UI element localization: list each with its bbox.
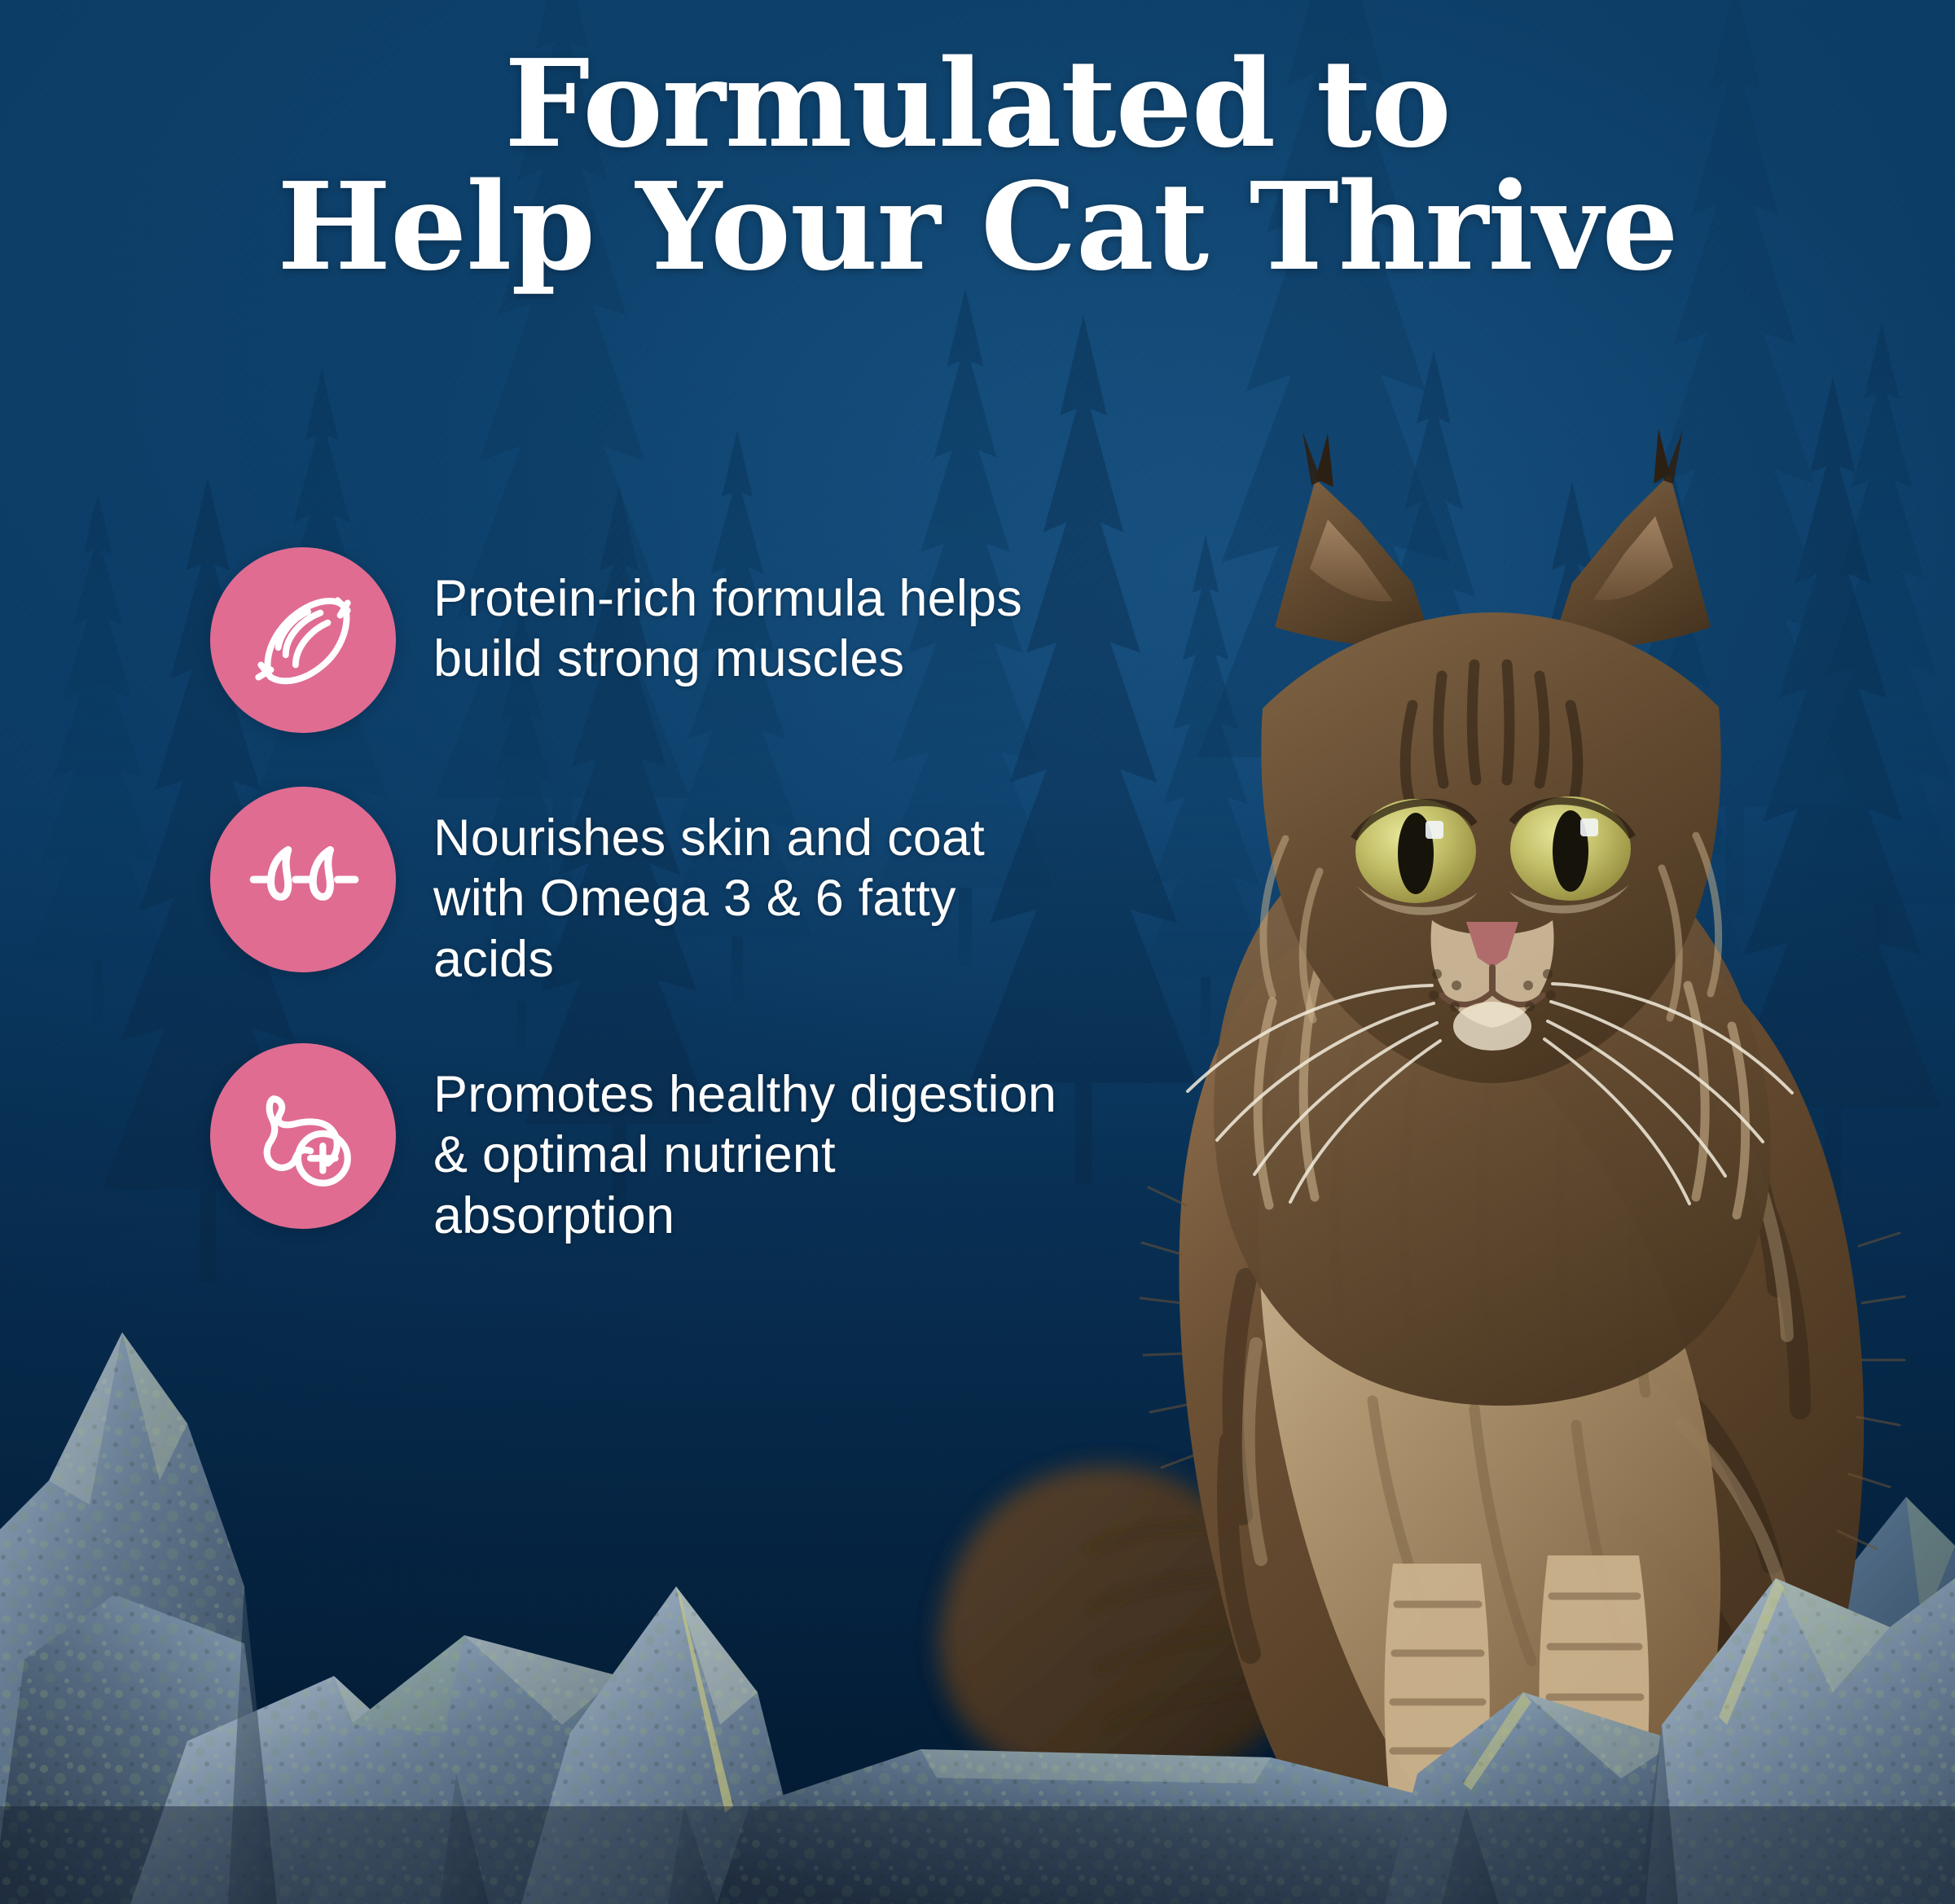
feature-text-skin-coat: Nourishes skin and coat with Omega 3 & 6… <box>433 787 1065 989</box>
feature-item-skin-coat: Nourishes skin and coat with Omega 3 & 6… <box>210 787 1065 989</box>
hair-follicle-icon-badge <box>210 787 396 972</box>
muscle-icon-badge <box>210 547 396 733</box>
muscle-icon <box>241 578 365 702</box>
feature-text-protein: Protein-rich formula helps build strong … <box>433 547 1065 690</box>
rocks-foreground <box>0 1236 1955 1904</box>
hair-follicle-icon <box>241 818 365 941</box>
feature-item-protein: Protein-rich formula helps build strong … <box>210 547 1065 733</box>
feature-item-digestion: Promotes healthy digestion & optimal nut… <box>210 1043 1065 1246</box>
feature-list: Protein-rich formula helps build strong … <box>210 547 1065 1246</box>
promo-banner: Formulated to Help Your Cat Thrive <box>0 0 1955 1904</box>
headline-line-2: Help Your Cat Thrive <box>98 165 1857 288</box>
feature-text-digestion: Promotes healthy digestion & optimal nut… <box>433 1043 1065 1246</box>
stomach-plus-icon-badge <box>210 1043 396 1229</box>
page-title: Formulated to Help Your Cat Thrive <box>0 42 1955 288</box>
headline-line-1: Formulated to <box>504 33 1451 174</box>
stomach-plus-icon <box>241 1074 365 1198</box>
